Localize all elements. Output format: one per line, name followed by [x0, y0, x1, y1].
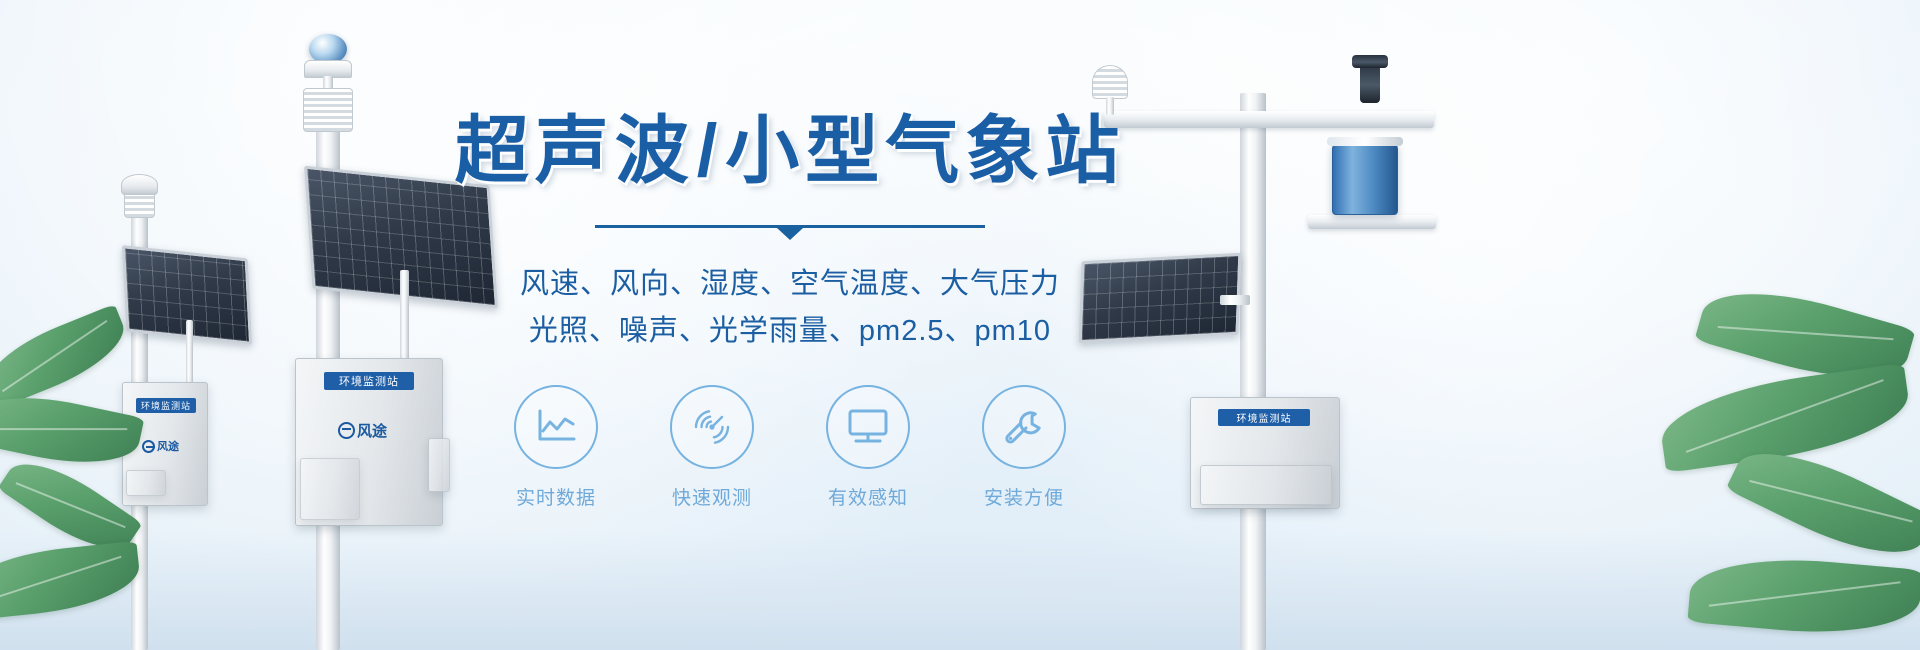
caret-down-icon	[777, 228, 803, 240]
feature-item-fast-observation[interactable]: 快速观测	[656, 385, 768, 510]
cross-arm-lower-right	[1308, 215, 1436, 229]
cabinet-label-right: 环境监测站	[1218, 409, 1310, 426]
line-chart-icon	[534, 407, 578, 447]
sensor-head-left	[121, 174, 158, 195]
cabinet-lower-right	[1200, 465, 1332, 505]
product-banner: 环境监测站 风途 环境监测站 风途 环境监测站	[0, 0, 1920, 650]
mast-pole-right	[1240, 93, 1266, 650]
cabinet-door-left	[126, 470, 166, 496]
headline-part-1: 超声波	[455, 109, 695, 192]
feature-icon-circle	[514, 385, 598, 469]
cabinet-door-center	[300, 458, 360, 520]
monitor-screen-icon	[845, 407, 891, 447]
cabinet-label-left: 环境监测站	[136, 398, 196, 413]
brand-mark-icon	[338, 422, 355, 439]
subtitle-line-2: 光照、噪声、光学雨量、pm2.5、pm10	[440, 308, 1140, 355]
feature-icon-circle	[826, 385, 910, 469]
feature-item-effective-sensing[interactable]: 有效感知	[812, 385, 924, 510]
feature-label: 安装方便	[968, 483, 1080, 510]
compact-weather-sensor-right	[1092, 65, 1128, 99]
banner-content: 超声波/小型气象站 风速、风向、湿度、空气温度、大气压力 光照、噪声、光学雨量、…	[440, 110, 1140, 510]
subtitle: 风速、风向、湿度、空气温度、大气压力 光照、噪声、光学雨量、pm2.5、pm10	[440, 261, 1140, 355]
subtitle-line-1: 风速、风向、湿度、空气温度、大气压力	[440, 261, 1140, 308]
panel-support-left	[186, 320, 193, 390]
ultrasonic-wind-head-right	[1352, 55, 1388, 68]
cross-arm-right	[1104, 111, 1434, 128]
headline-slash: /	[697, 109, 724, 192]
optical-rain-gauge-right	[1332, 143, 1398, 215]
feature-list: 实时数据 快	[440, 385, 1140, 510]
feature-icon-circle	[982, 385, 1066, 469]
radiation-shield-center	[303, 88, 353, 132]
wrench-icon	[1001, 404, 1047, 450]
divider	[595, 225, 985, 239]
brand-text-left: 风途	[157, 438, 179, 454]
brand-text-center: 风途	[357, 420, 387, 441]
feature-item-realtime-data[interactable]: 实时数据	[500, 385, 612, 510]
cabinet-label-center: 环境监测站	[324, 372, 414, 390]
brand-logo-left: 风途	[142, 438, 179, 454]
air-temperature-shield-left	[124, 192, 155, 218]
page-title: 超声波/小型气象站	[440, 110, 1140, 191]
feature-label: 实时数据	[500, 483, 612, 510]
ultrasonic-wind-sensor-right	[1360, 63, 1380, 103]
brand-mark-icon	[142, 440, 155, 453]
feature-icon-circle	[670, 385, 754, 469]
radar-observation-icon	[689, 404, 735, 450]
feature-item-easy-installation[interactable]: 安装方便	[968, 385, 1080, 510]
brand-logo-center: 风途	[338, 420, 387, 441]
feature-label: 有效感知	[812, 483, 924, 510]
feature-label: 快速观测	[656, 483, 768, 510]
panel-bracket-right	[1220, 295, 1250, 305]
headline-part-2: 小型气象站	[725, 109, 1125, 192]
panel-support-center	[400, 270, 409, 366]
